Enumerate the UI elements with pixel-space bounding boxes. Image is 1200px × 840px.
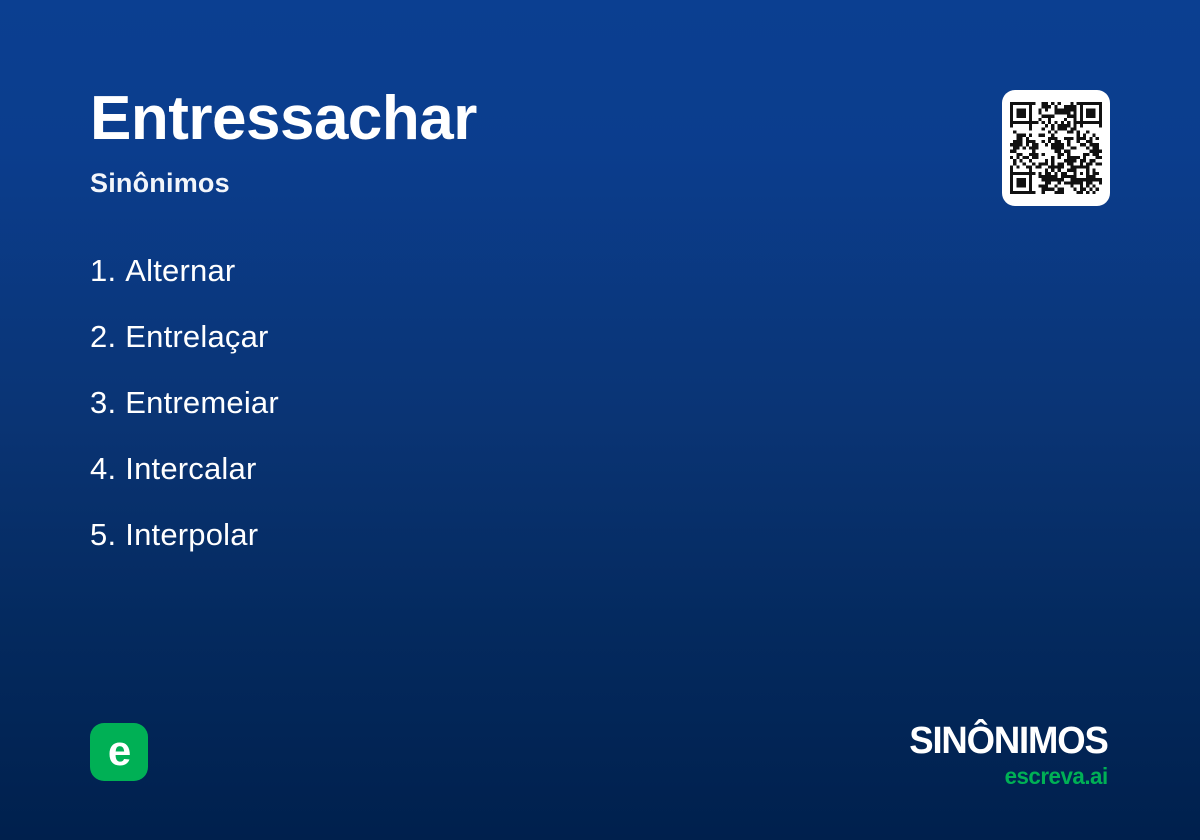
list-item-label: Intercalar	[125, 451, 256, 487]
list-item-index: 5.	[90, 517, 116, 553]
list-item-label: Entrelaçar	[125, 319, 268, 355]
list-item-label: Interpolar	[125, 517, 258, 553]
page-title: Entressachar	[90, 86, 477, 151]
list-item-index: 4.	[90, 451, 116, 487]
qr-code-panel[interactable]	[1002, 90, 1110, 206]
sinonimos-wordmark[interactable]: SINÔNIMOS escreva.ai	[901, 722, 1108, 788]
list-item: 2. Entrelaçar	[90, 304, 690, 370]
synonyms-list: 1. Alternar 2. Entrelaçar 3. Entremeiar …	[90, 238, 690, 568]
escreva-logo-letter: e	[108, 730, 130, 772]
list-item: 3. Entremeiar	[90, 370, 690, 436]
page-subtitle: Sinônimos	[90, 168, 230, 199]
list-item-index: 1.	[90, 253, 116, 289]
wordmark-title: SINÔNIMOS	[910, 722, 1108, 760]
escreva-logo-badge[interactable]: e	[90, 723, 148, 781]
list-item-label: Entremeiar	[125, 385, 279, 421]
list-item-label: Alternar	[125, 253, 235, 289]
list-item: 4. Intercalar	[90, 436, 690, 502]
list-item-index: 2.	[90, 319, 116, 355]
list-item-index: 3.	[90, 385, 116, 421]
list-item: 5. Interpolar	[90, 502, 690, 568]
list-item: 1. Alternar	[90, 238, 690, 304]
qr-code-icon	[1010, 102, 1102, 194]
synonym-card: Entressachar Sinônimos 1. Alternar 2. En…	[0, 0, 1200, 840]
wordmark-subtitle: escreva.ai	[908, 765, 1108, 788]
